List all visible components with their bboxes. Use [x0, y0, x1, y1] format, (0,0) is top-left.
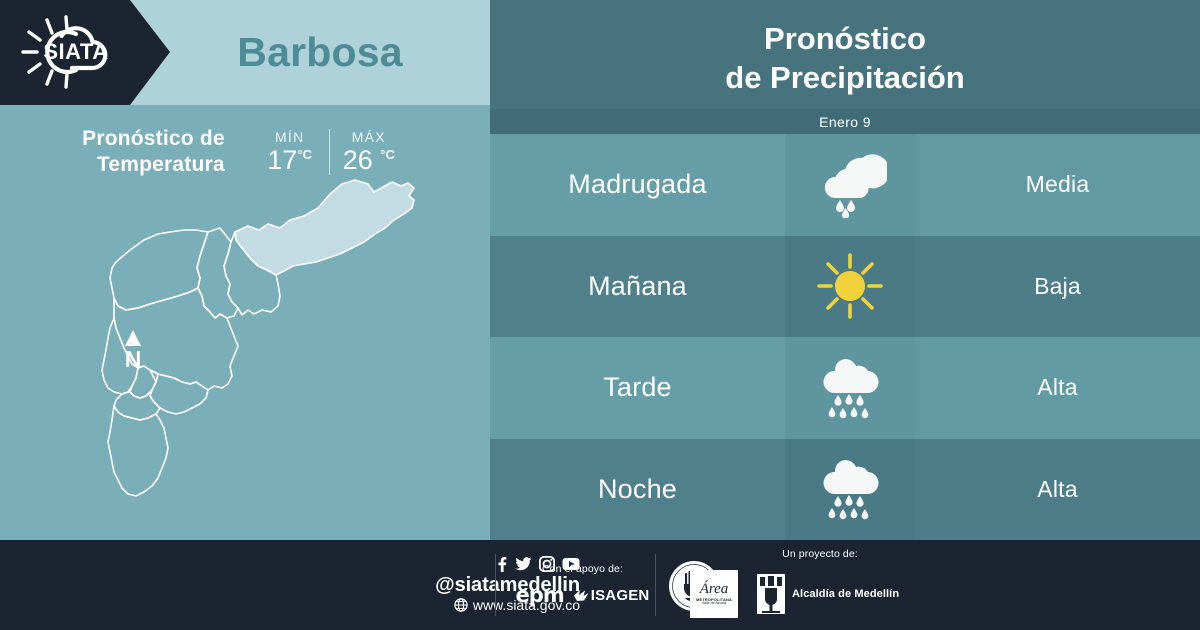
epm-logo: epm — [516, 583, 564, 607]
project-label: Un proyecto de: — [690, 548, 950, 560]
temperature-values: MÍN 17°C MÁX 26 °C — [251, 129, 408, 175]
logo-text: SIATA — [43, 39, 108, 64]
temperature-title-line1: Pronóstico de — [82, 126, 225, 152]
forecast-title-line2: de Precipitación — [725, 58, 964, 97]
period-label: Noche — [490, 439, 785, 541]
north-arrow-icon — [125, 330, 141, 346]
weather-icon-cell — [785, 439, 915, 541]
page-title: Barbosa — [160, 0, 480, 105]
footer-divider-1 — [495, 554, 496, 616]
precipitation-level: Alta — [915, 439, 1200, 541]
alcaldia-crest-icon — [756, 573, 786, 615]
globe-icon — [454, 598, 468, 612]
weather-icon-cell — [785, 236, 915, 338]
area-logo-line3: Valle de Aburrá — [702, 602, 726, 606]
table-row: Noche Al — [490, 439, 1200, 541]
compass-north: N — [125, 330, 142, 372]
min-unit: °C — [297, 147, 312, 162]
table-row: Tarde Al — [490, 337, 1200, 439]
weather-icon-cell — [785, 337, 915, 439]
sun-cloud-icon: SIATA — [14, 12, 138, 92]
forecast-date-band: Enero 9 — [490, 109, 1200, 134]
cloud-heavy-rain-icon — [814, 353, 886, 423]
support-logos: epm ISAGEN — [516, 583, 650, 607]
period-label: Tarde — [490, 337, 785, 439]
period-label: Mañana — [490, 236, 785, 338]
valley-map: N — [52, 170, 452, 538]
max-unit: °C — [380, 147, 395, 162]
isagen-text: ISAGEN — [591, 587, 650, 604]
precipitation-level: Media — [915, 134, 1200, 236]
weather-forecast-poster: Barbosa SIATA Pronóstico de — [0, 0, 1200, 630]
area-metropolitana-logo: Área METROPOLITANA Valle de Aburrá — [690, 570, 738, 618]
temperature-min: MÍN 17°C — [251, 129, 329, 175]
isagen-logo: ISAGEN — [574, 587, 650, 604]
project-block: Un proyecto de: Área METROPOLITANA Valle… — [690, 546, 950, 624]
temperature-max: MÁX 26 °C — [329, 129, 408, 175]
table-row: Mañana — [490, 236, 1200, 338]
support-block: Con el apoyo de: epm ISAGEN — [500, 550, 665, 620]
map-region-caldas — [108, 406, 168, 496]
forecast-title-line1: Pronóstico — [764, 19, 926, 58]
footer-divider-2 — [655, 554, 656, 616]
project-logos: Área METROPOLITANA Valle de Aburrá — [690, 564, 950, 624]
compass-label: N — [125, 346, 142, 372]
cloud-heavy-rain-icon — [814, 454, 886, 524]
right-panel: Pronóstico de Precipitación Enero 9 Madr… — [490, 0, 1200, 540]
temperature-min-label: MÍN — [264, 129, 316, 145]
forecast-date: Enero 9 — [819, 114, 871, 130]
isagen-mark-icon — [574, 589, 589, 602]
map-region-bello — [110, 230, 208, 310]
table-row: Madrugada Media — [490, 134, 1200, 236]
support-label: Con el apoyo de: — [542, 563, 623, 575]
moon-cloud-rain-icon — [813, 152, 887, 218]
area-logo-script: Área — [700, 582, 729, 597]
footer: @siatamedellin www.siata.gov.co Con el a… — [0, 540, 1200, 630]
sun-icon — [814, 250, 886, 322]
weather-icon-cell — [785, 134, 915, 236]
alcaldia-group: Alcaldía de Medellín — [756, 573, 899, 615]
left-panel: Barbosa SIATA Pronóstico de — [0, 0, 490, 540]
precipitation-level: Alta — [915, 337, 1200, 439]
alcaldia-text: Alcaldía de Medellín — [792, 588, 899, 600]
period-label: Madrugada — [490, 134, 785, 236]
forecast-title: Pronóstico de Precipitación — [490, 8, 1200, 108]
forecast-table: Madrugada Media Mañana — [490, 134, 1200, 540]
temperature-max-label: MÁX — [343, 129, 395, 145]
map-svg: N — [52, 170, 452, 538]
precipitation-level: Baja — [915, 236, 1200, 338]
map-region-barbosa — [235, 180, 414, 275]
